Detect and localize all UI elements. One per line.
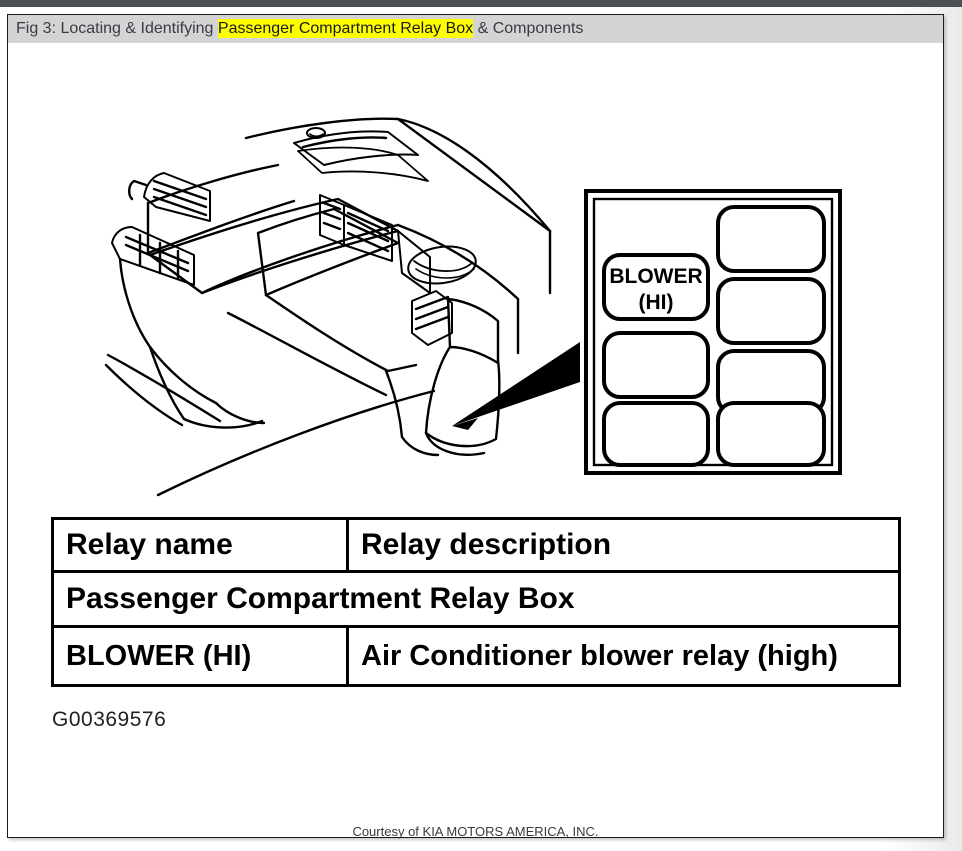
header-relay-name: Relay name: [53, 519, 348, 572]
callout-arrow: [438, 298, 598, 448]
table-header-row: Relay name Relay description: [53, 519, 900, 572]
figure-caption-text: Fig 3: Locating & Identifying Passenger …: [8, 20, 583, 38]
document-viewport: Fig 3: Locating & Identifying Passenger …: [0, 0, 962, 851]
relay-legend-table: Relay name Relay description Passenger C…: [51, 517, 901, 687]
caption-suffix: & Components: [473, 20, 583, 37]
relay-box-diagram: BLOWER (HI): [578, 151, 848, 481]
relay-slot-blower-hi: BLOWER (HI): [604, 255, 708, 319]
relay-slot-empty-right-1: [718, 207, 824, 271]
window-top-strip: [0, 0, 962, 7]
caption-prefix: Fig 3: Locating & Identifying: [16, 20, 218, 37]
relay-slot-label-line2: (HI): [639, 291, 674, 314]
relay-box-svg: BLOWER (HI): [578, 151, 848, 481]
relay-slot-empty-right-4: [718, 403, 824, 465]
relay-slot-label-line1: BLOWER: [609, 265, 702, 288]
group-label-passenger-compartment-relay-box: Passenger Compartment Relay Box: [53, 572, 900, 627]
relay-slot-empty-right-2: [718, 279, 824, 343]
figure-caption-bar: Fig 3: Locating & Identifying Passenger …: [8, 15, 943, 43]
table-group-row: Passenger Compartment Relay Box: [53, 572, 900, 627]
cell-relay-name: BLOWER (HI): [53, 627, 348, 686]
figure-area: BLOWER (HI) Relay name: [8, 43, 943, 838]
cell-relay-description: Air Conditioner blower relay (high): [348, 627, 900, 686]
document-panel: Fig 3: Locating & Identifying Passenger …: [7, 14, 944, 838]
courtesy-line: Courtesy of KIA MOTORS AMERICA, INC.: [8, 824, 943, 839]
callout-arrow-svg: [438, 298, 598, 448]
header-relay-description: Relay description: [348, 519, 900, 572]
relay-slot-empty-left-3: [604, 333, 708, 397]
table-row: BLOWER (HI) Air Conditioner blower relay…: [53, 627, 900, 686]
caption-highlight: Passenger Compartment Relay Box: [218, 19, 473, 38]
figure-id-label: G00369576: [52, 708, 166, 732]
relay-slot-empty-left-4: [604, 403, 708, 465]
